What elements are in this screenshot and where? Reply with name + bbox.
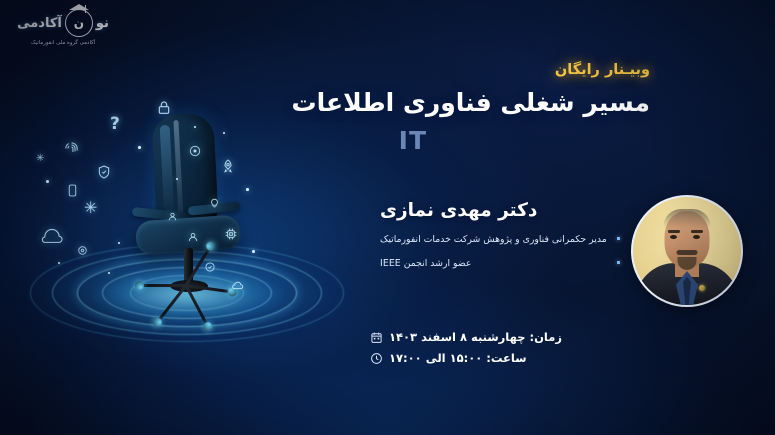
schedule-row-date: زمان: چهارشنبه ۸ اسفند ۱۴۰۳ [370, 330, 620, 344]
page-title: مسیر شغلی فناوری اطلاعات [292, 88, 650, 117]
schedule-date-text: زمان: چهارشنبه ۸ اسفند ۱۴۰۳ [389, 330, 562, 344]
clock-icon [370, 352, 383, 365]
speaker-credentials: مدیر حکمرانی فناوری و پژوهش شرکت خدمات ا… [380, 232, 620, 271]
page-title-en: IT [399, 126, 427, 155]
webinar-poster: نو ن آکادمی آکادمی گروه ملی انفورماتیک [0, 0, 775, 435]
fingerprint-icon [63, 140, 80, 157]
credential-text: مدیر حکمرانی فناوری و پژوهش شرکت خدمات ا… [380, 234, 607, 245]
bullet-dot-icon [617, 261, 620, 264]
mobile-icon [68, 184, 77, 197]
bullet-dot-icon [617, 237, 620, 240]
hero-illustration: ? [18, 92, 358, 347]
avatar [631, 195, 743, 307]
graduation-cap-emblem-icon: ن [65, 9, 93, 37]
asterisk-icon: ✳ [84, 200, 97, 216]
credential-text: عضو ارشد انجمن IEEE [380, 258, 471, 269]
kicker-free-webinar: وبیـنار رایگان [555, 62, 650, 78]
cloud-icon [39, 227, 65, 247]
logo-lockup: نو ن آکادمی [8, 8, 118, 38]
question-mark-icon: ? [110, 116, 120, 133]
logo-word-left: نو [96, 16, 109, 31]
brand-tagline: آکادمی گروه ملی انفورماتیک [8, 40, 118, 46]
speaker-name: دکتر مهدی نمازی [380, 200, 620, 221]
schedule-block: زمان: چهارشنبه ۸ اسفند ۱۴۰۳ ساعت: ۱۵:۰۰ … [370, 330, 620, 372]
list-item: عضو ارشد انجمن IEEE [380, 256, 620, 271]
shield-icon [96, 164, 112, 180]
brand-logo[interactable]: نو ن آکادمی آکادمی گروه ملی انفورماتیک [8, 8, 118, 54]
speaker-block: دکتر مهدی نمازی مدیر حکمرانی فناوری و پژ… [380, 200, 620, 280]
list-item: مدیر حکمرانی فناوری و پژوهش شرکت خدمات ا… [380, 232, 620, 247]
schedule-row-time: ساعت: ۱۵:۰۰ الی ۱۷:۰۰ [370, 351, 620, 365]
asterisk-icon: ✳ [36, 154, 44, 164]
calendar-icon [370, 331, 383, 344]
logo-word-right: آکادمی [17, 16, 62, 31]
office-chair-illustration [126, 114, 258, 314]
schedule-time-text: ساعت: ۱۵:۰۰ الی ۱۷:۰۰ [389, 351, 527, 365]
